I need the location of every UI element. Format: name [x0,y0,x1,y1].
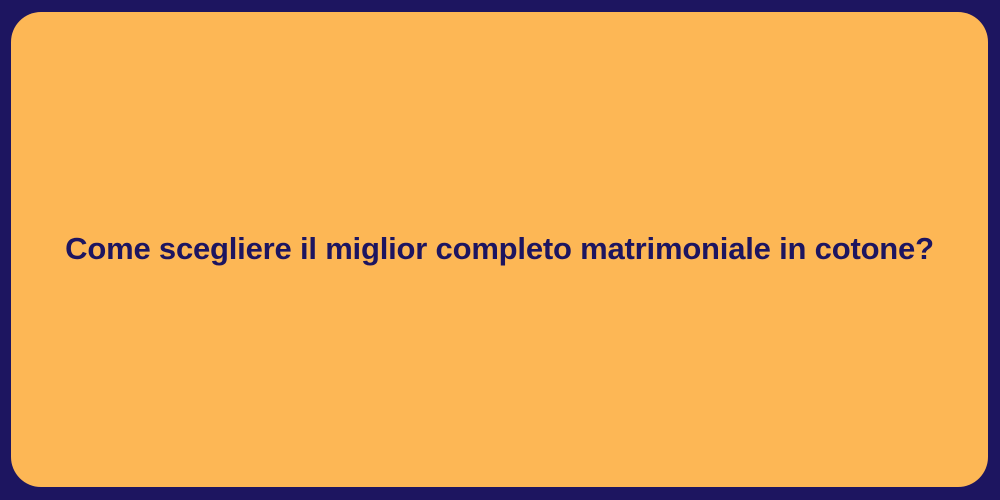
content-card: Come scegliere il miglior completo matri… [11,12,988,487]
page-frame: Come scegliere il miglior completo matri… [0,0,1000,500]
page-title: Come scegliere il miglior completo matri… [63,230,936,269]
